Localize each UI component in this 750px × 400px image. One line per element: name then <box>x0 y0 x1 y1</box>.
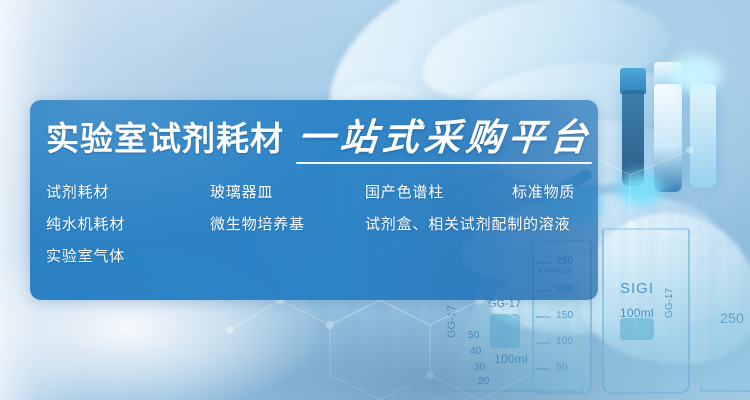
category-item-laboratory-gas[interactable]: 实验室气体 <box>46 245 125 266</box>
page-subtitle-calligraphy: 一站式采购平台 <box>296 120 593 157</box>
title-underline <box>296 162 592 164</box>
category-row-3: 实验室气体 <box>46 245 594 277</box>
headline-title-row: 实验室试剂耗材 一站式采购平台 <box>46 120 592 157</box>
category-item-water-purifier-consumables[interactable]: 纯水机耗材 <box>46 213 125 234</box>
category-item-reference-materials[interactable]: 标准物质 <box>512 181 575 202</box>
page-title: 实验室试剂耗材 <box>46 122 284 155</box>
category-row-1: 试剂耗材 玻璃器皿 国产色谱柱 标准物质 <box>46 181 594 213</box>
category-item-domestic-chromatography-column[interactable]: 国产色谱柱 <box>365 181 444 202</box>
category-grid: 试剂耗材 玻璃器皿 国产色谱柱 标准物质 纯水机耗材 微生物培养基 试剂盒、相关… <box>46 181 594 277</box>
category-item-reagent-consumables[interactable]: 试剂耗材 <box>46 181 109 202</box>
category-item-reagent-kits-solutions[interactable]: 试剂盒、相关试剂配制的溶液 <box>365 213 570 234</box>
category-row-2: 纯水机耗材 微生物培养基 试剂盒、相关试剂配制的溶液 <box>46 213 594 245</box>
headline-card: 实验室试剂耗材 一站式采购平台 试剂耗材 玻璃器皿 国产色谱柱 标准物质 纯水机… <box>30 100 598 300</box>
category-item-glassware[interactable]: 玻璃器皿 <box>210 181 273 202</box>
category-item-microbial-culture-medium[interactable]: 微生物培养基 <box>210 213 305 234</box>
promo-banner: 250 APPROX 200 150 100 50 GG-17 50 40 30… <box>0 0 750 400</box>
headline-brush-wrap: 一站式采购平台 <box>298 120 592 157</box>
